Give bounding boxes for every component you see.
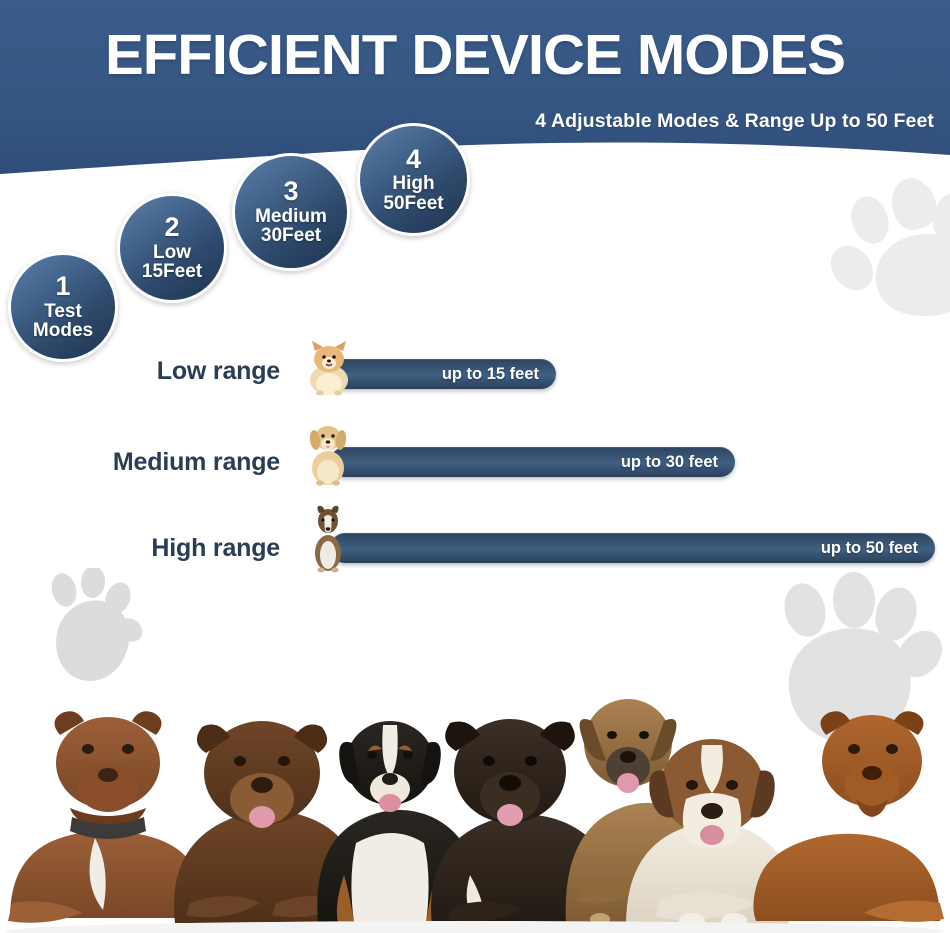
range-label-low: Low range: [80, 357, 280, 386]
mode-circle-2[interactable]: 2 Low 15Feet: [117, 193, 227, 303]
mode-3-line1: Medium: [255, 207, 327, 226]
mode-3-number: 3: [283, 178, 298, 206]
mode-1-line2: Modes: [33, 321, 93, 340]
range-bar-medium[interactable]: up to 30 feet: [330, 447, 735, 477]
mode-3-line2: 30Feet: [261, 226, 321, 245]
mode-1-line1: Test: [44, 302, 82, 321]
range-bar-high[interactable]: up to 50 feet: [330, 533, 935, 563]
paw-print-icon-mid-right: [905, 185, 950, 295]
range-value-low: up to 15 feet: [442, 365, 556, 384]
header: EFFICIENT DEVICE MODES 4 Adjustable Mode…: [0, 0, 950, 180]
range-value-high: up to 50 feet: [821, 539, 935, 558]
mode-4-line1: High: [392, 174, 434, 193]
mode-2-line1: Low: [153, 243, 191, 262]
infographic-root: EFFICIENT DEVICE MODES 4 Adjustable Mode…: [0, 0, 950, 933]
group-of-large-dogs-photo: [0, 603, 950, 933]
range-label-high: High range: [80, 534, 280, 563]
range-value-medium: up to 30 feet: [621, 453, 735, 472]
mode-2-line2: 15Feet: [142, 262, 202, 281]
mode-4-line2: 50Feet: [383, 194, 443, 213]
mode-4-number: 4: [406, 146, 421, 174]
range-label-medium: Medium range: [60, 448, 280, 477]
dog-dogue-de-bordeaux: [8, 711, 203, 923]
pomeranian-dog-icon: [300, 340, 358, 396]
mode-circle-4[interactable]: 4 High 50Feet: [357, 123, 470, 236]
range-bar-low[interactable]: up to 15 feet: [330, 359, 556, 389]
mode-1-number: 1: [55, 273, 70, 301]
page-title: EFFICIENT DEVICE MODES: [0, 27, 950, 84]
dog-dogue-de-bordeaux-right: [753, 711, 944, 922]
mode-2-number: 2: [164, 214, 179, 242]
mode-circle-3[interactable]: 3 Medium 30Feet: [232, 153, 350, 271]
whippet-dog-icon: [302, 503, 354, 573]
mode-circle-1[interactable]: 1 Test Modes: [8, 252, 118, 362]
golden-retriever-puppy-dog-icon: [300, 418, 356, 486]
page-subtitle: 4 Adjustable Modes & Range Up to 50 Feet: [535, 110, 934, 133]
